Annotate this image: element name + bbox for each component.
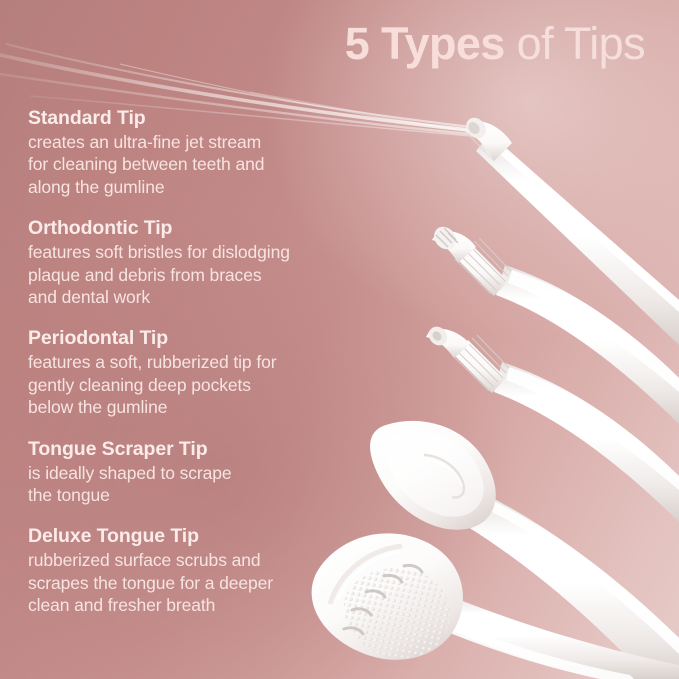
title-light: of Tips	[505, 18, 645, 69]
tip-item-standard: Standard Tip creates an ultra-fine jet s…	[28, 106, 368, 198]
tip-title: Periodontal Tip	[28, 326, 368, 350]
tip-description-line: and dental work	[28, 286, 368, 308]
tip-description: rubberized surface scrubs and scrapes th…	[28, 549, 368, 616]
standard-jet-tip-icon	[462, 114, 679, 345]
tip-description-line: clean and fresher breath	[28, 594, 368, 616]
tip-item-tongue-scraper: Tongue Scraper Tip is ideally shaped to …	[28, 437, 368, 507]
tip-title: Deluxe Tongue Tip	[28, 524, 368, 548]
tip-description-line: features soft bristles for dislodging	[28, 241, 368, 263]
tip-description-line: creates an ultra-fine jet stream	[28, 131, 368, 153]
tip-description: features a soft, rubberized tip for gent…	[28, 351, 368, 418]
tip-description-line: gently cleaning deep pockets	[28, 374, 368, 396]
tip-description: features soft bristles for dislodging pl…	[28, 241, 368, 308]
tongue-scraper-tip-icon	[370, 421, 679, 679]
tip-title: Tongue Scraper Tip	[28, 437, 368, 461]
tip-item-periodontal: Periodontal Tip features a soft, rubberi…	[28, 326, 368, 418]
page-title: 5 Types of Tips	[345, 17, 645, 71]
orthodontic-brush-tip-icon	[430, 222, 679, 424]
tip-description: is ideally shaped to scrape the tongue	[28, 462, 368, 507]
tip-title: Orthodontic Tip	[28, 216, 368, 240]
tip-description-line: for cleaning between teeth and	[28, 153, 368, 175]
periodontal-pocket-tip-icon	[425, 323, 679, 522]
tip-description-line: features a soft, rubberized tip for	[28, 351, 368, 373]
tip-description: creates an ultra-fine jet stream for cle…	[28, 131, 368, 198]
tip-item-orthodontic: Orthodontic Tip features soft bristles f…	[28, 216, 368, 308]
tip-description-line: the tongue	[28, 484, 368, 506]
tip-description-line: is ideally shaped to scrape	[28, 462, 368, 484]
product-infographic: 5 Types of Tips Standard Tip creates an …	[0, 0, 679, 679]
tip-description-line: below the gumline	[28, 396, 368, 418]
tip-list: Standard Tip creates an ultra-fine jet s…	[28, 106, 368, 617]
tip-title: Standard Tip	[28, 106, 368, 130]
tip-item-deluxe-tongue: Deluxe Tongue Tip rubberized surface scr…	[28, 524, 368, 616]
tip-description-line: rubberized surface scrubs and	[28, 549, 368, 571]
tip-description-line: plaque and debris from braces	[28, 264, 368, 286]
title-strong: 5 Types	[345, 18, 505, 69]
tip-description-line: scrapes the tongue for a deeper	[28, 572, 368, 594]
tip-description-line: along the gumline	[28, 176, 368, 198]
